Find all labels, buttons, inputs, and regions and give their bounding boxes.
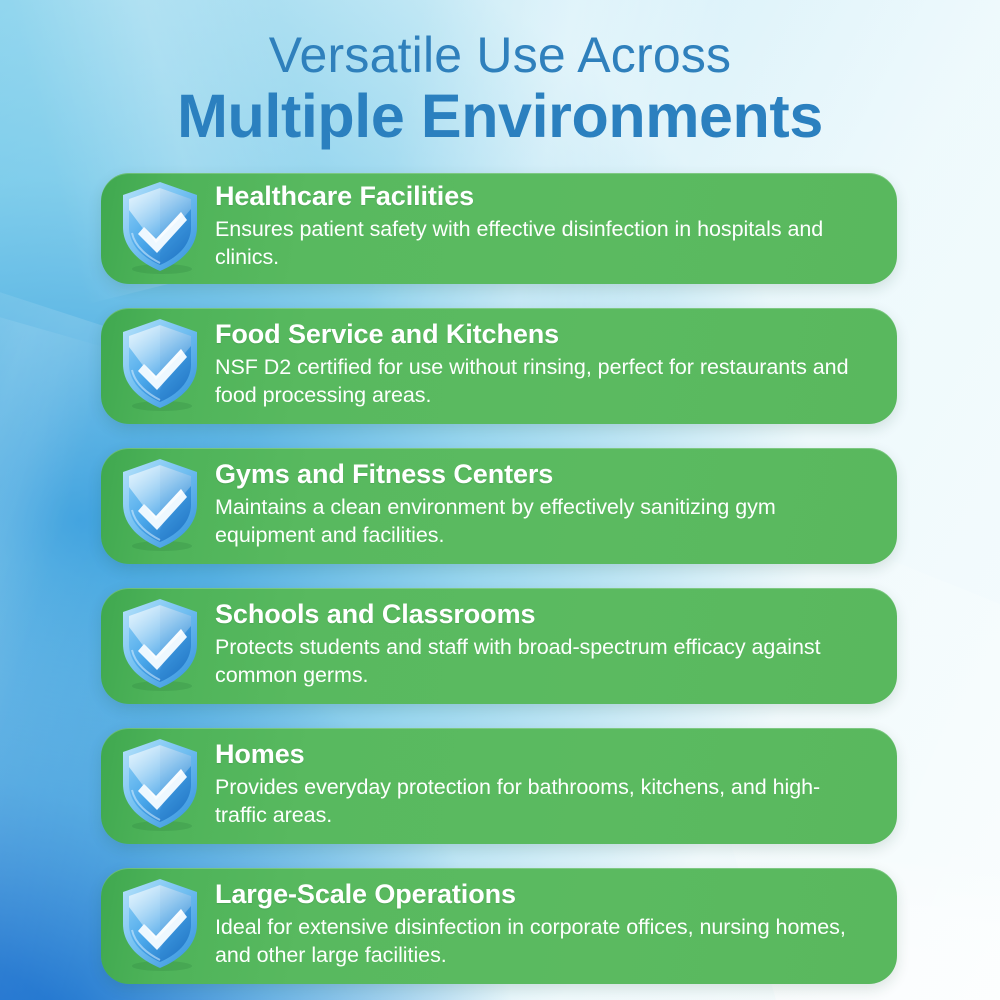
list-item: Gyms and Fitness Centers Maintains a cle… (101, 448, 897, 564)
page-title-line-1: Versatile Use Across (0, 28, 1000, 82)
card-description: Provides everyday protection for bathroo… (215, 773, 865, 830)
card-text: Large-Scale Operations Ideal for extensi… (212, 879, 871, 970)
shield-check-icon (108, 596, 212, 692)
card-text: Schools and Classrooms Protects students… (212, 599, 871, 690)
infographic-poster: Versatile Use Across Multiple Environmen… (0, 0, 1000, 1000)
card-text: Healthcare Facilities Ensures patient sa… (212, 181, 871, 272)
shield-check-icon (108, 316, 212, 412)
shield-check-icon (108, 179, 212, 275)
card-title: Homes (215, 739, 865, 771)
list-item: Healthcare Facilities Ensures patient sa… (101, 173, 897, 284)
card-title: Large-Scale Operations (215, 879, 865, 911)
list-item: Homes Provides everyday protection for b… (101, 728, 897, 844)
list-item: Large-Scale Operations Ideal for extensi… (101, 868, 897, 984)
card-text: Homes Provides everyday protection for b… (212, 739, 871, 830)
card-title: Schools and Classrooms (215, 599, 865, 631)
shield-check-icon (108, 456, 212, 552)
card-description: Maintains a clean environment by effecti… (215, 493, 865, 550)
page-title-line-2: Multiple Environments (0, 82, 1000, 152)
card-description: NSF D2 certified for use without rinsing… (215, 353, 865, 410)
card-title: Gyms and Fitness Centers (215, 459, 865, 491)
card-description: Protects students and staff with broad-s… (215, 633, 865, 690)
shield-check-icon (108, 876, 212, 972)
list-item: Food Service and Kitchens NSF D2 certifi… (101, 308, 897, 424)
card-description: Ensures patient safety with effective di… (215, 215, 865, 272)
page-title: Versatile Use Across Multiple Environmen… (0, 0, 1000, 152)
list-item: Schools and Classrooms Protects students… (101, 588, 897, 704)
card-description: Ideal for extensive disinfection in corp… (215, 913, 865, 970)
feature-card-list: Healthcare Facilities Ensures patient sa… (0, 173, 1000, 984)
shield-check-icon (108, 736, 212, 832)
card-text: Food Service and Kitchens NSF D2 certifi… (212, 319, 871, 410)
card-title: Healthcare Facilities (215, 181, 865, 213)
card-text: Gyms and Fitness Centers Maintains a cle… (212, 459, 871, 550)
card-title: Food Service and Kitchens (215, 319, 865, 351)
